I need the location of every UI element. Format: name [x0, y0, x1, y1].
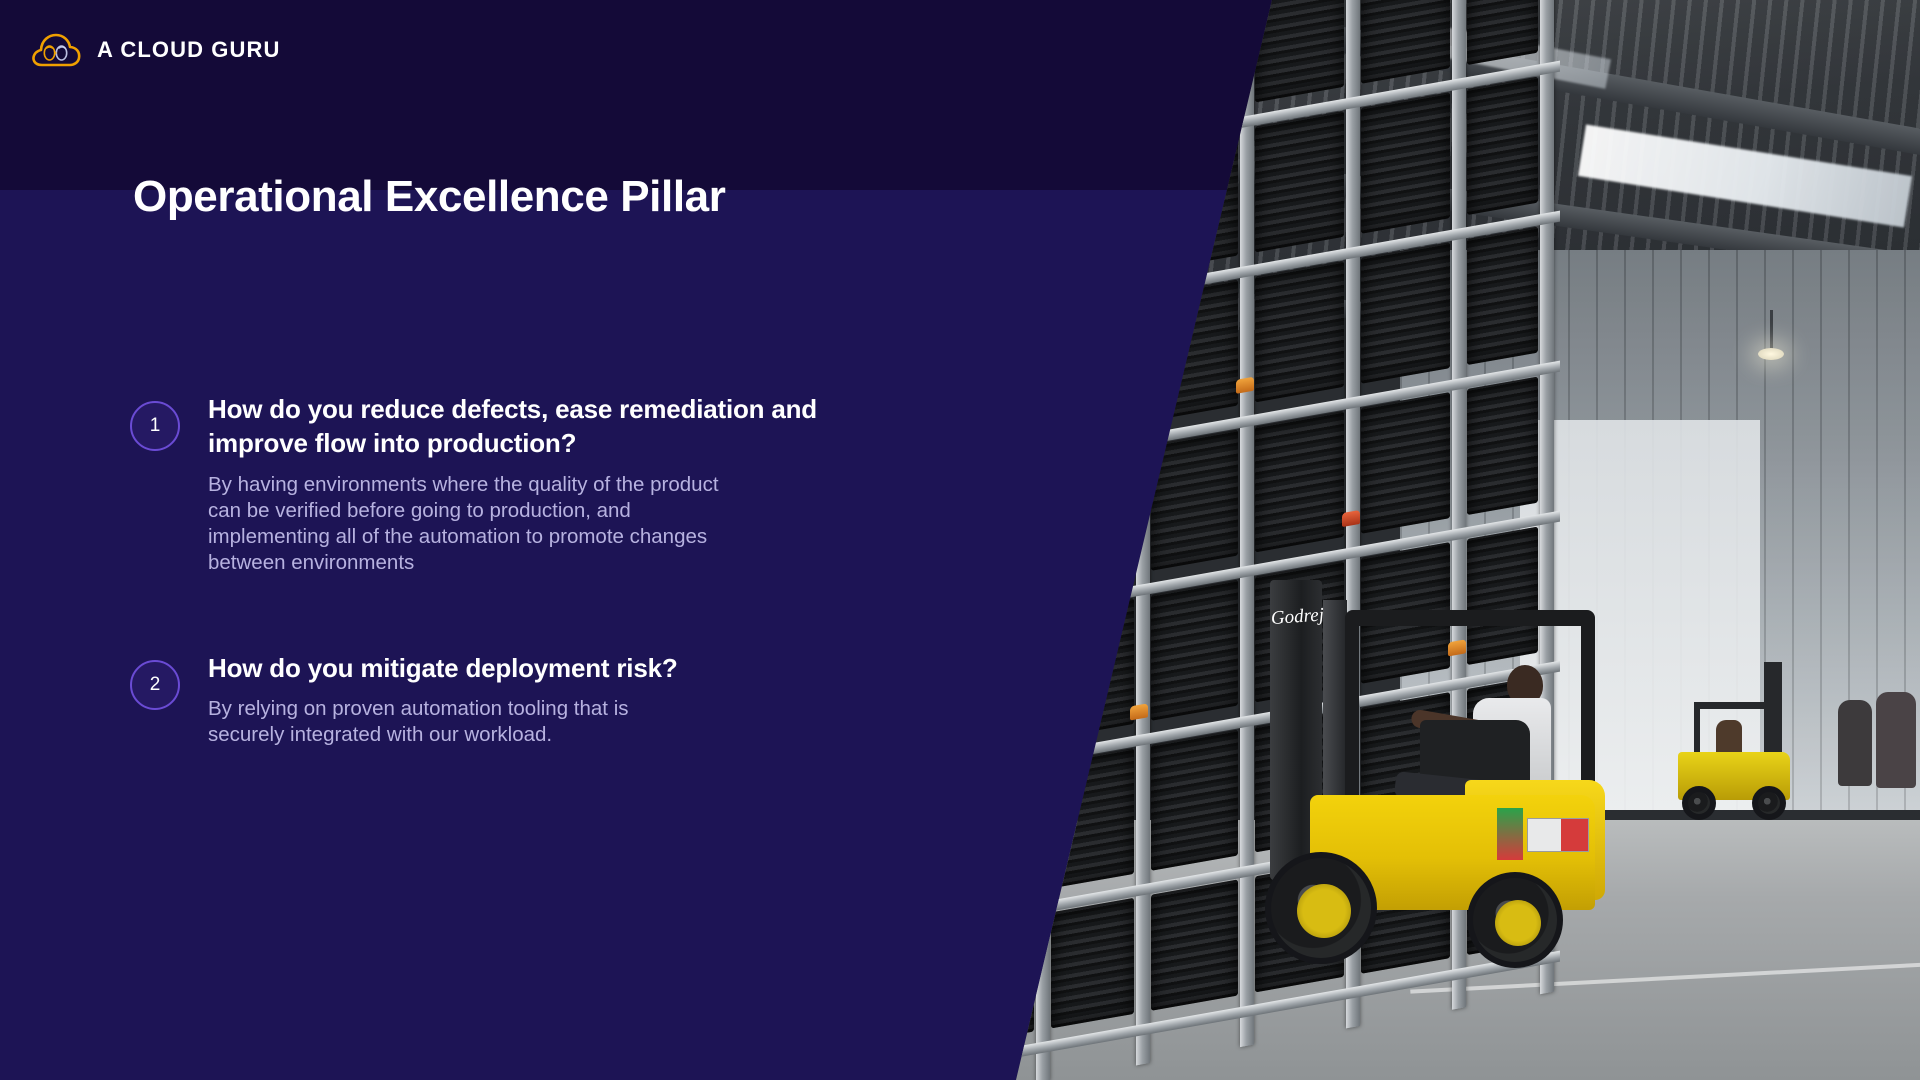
item-content: How do you mitigate deployment risk? By …	[208, 651, 890, 749]
item-number-badge: 2	[130, 660, 180, 710]
stacked-tires	[1361, 0, 1450, 84]
item-number-badge: 1	[130, 401, 180, 451]
stacked-tires	[1051, 898, 1134, 1029]
stacked-tires	[1467, 377, 1538, 516]
stacked-tires	[1151, 879, 1238, 1010]
forklift-cab-roof	[1694, 702, 1772, 709]
stacked-tires	[1151, 729, 1238, 870]
forklift-decal-label	[1527, 818, 1589, 852]
stacked-tires	[1255, 261, 1344, 403]
forklift-driver	[1716, 720, 1742, 756]
forklift-decal-stripe	[1497, 808, 1523, 860]
item-content: How do you reduce defects, ease remediat…	[208, 392, 890, 577]
list-item: 2 How do you mitigate deployment risk? B…	[130, 651, 890, 749]
stacked-tires	[1361, 392, 1450, 534]
warehouse-worker	[1838, 700, 1872, 786]
list-item: 1 How do you reduce defects, ease remedi…	[130, 392, 890, 577]
item-description: By relying on proven automation tooling …	[208, 696, 688, 748]
item-heading: How do you reduce defects, ease remediat…	[208, 392, 848, 461]
brand-logo[interactable]: A CLOUD GURU	[30, 29, 281, 71]
ceiling-lamp	[1758, 348, 1784, 360]
forklift-front-wheel	[1265, 852, 1377, 964]
stacked-tires	[1467, 227, 1538, 366]
forklift-wheel	[1682, 786, 1716, 820]
wheel-hub	[1495, 900, 1541, 946]
forklift-brand-label: Godrej	[1270, 604, 1332, 632]
brand-name: A CLOUD GURU	[97, 37, 281, 63]
lamp-stem	[1770, 310, 1773, 350]
page-title: Operational Excellence Pillar	[133, 172, 725, 222]
stacked-tires	[1255, 111, 1344, 253]
wheel-hub	[1297, 884, 1351, 938]
stacked-tires	[1467, 77, 1538, 216]
forklift-post	[1581, 614, 1595, 794]
stacked-tires	[1361, 92, 1450, 234]
cloud-guru-icon	[30, 29, 82, 71]
forklift-cab-roof	[1345, 610, 1595, 626]
question-list: 1 How do you reduce defects, ease remedi…	[130, 392, 890, 748]
stacked-tires	[1255, 411, 1344, 553]
stacked-tires	[1361, 242, 1450, 384]
forklift-rear-wheel	[1467, 872, 1563, 968]
forklift-wheel	[1752, 786, 1786, 820]
forklift-post	[1694, 702, 1700, 756]
item-description: By having environments where the quality…	[208, 472, 748, 577]
stacked-tires	[1467, 0, 1538, 65]
forklift-post	[1345, 614, 1359, 804]
warehouse-worker	[1876, 692, 1916, 788]
main-forklift: Godrej	[1235, 580, 1655, 1000]
background-forklift	[1660, 690, 1810, 840]
stacked-tires	[1151, 579, 1238, 720]
item-heading: How do you mitigate deployment risk?	[208, 651, 848, 685]
forklift-post	[1764, 702, 1770, 756]
